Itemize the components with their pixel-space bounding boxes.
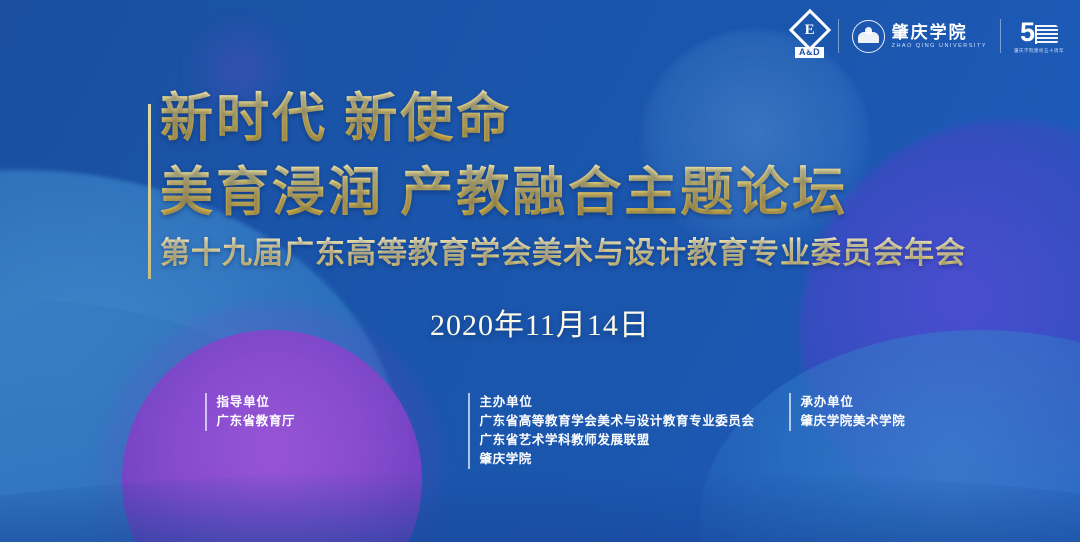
art-design-diamond-icon: E (788, 8, 830, 50)
anniversary-numeral: 5 (1020, 19, 1034, 46)
background-purple-circle (122, 330, 422, 542)
credit-org-name: 广东省高等教育学会美术与设计教育专业委员会 (480, 412, 755, 431)
background-bottom-navy-sweep (0, 470, 1080, 542)
credit-block-organizing-unit: 承办单位 肇庆学院美术学院 (789, 393, 905, 431)
credit-accent-bar (205, 393, 207, 431)
credit-role-label: 指导单位 (217, 393, 296, 412)
credit-org-name: 广东省教育厅 (217, 412, 296, 431)
credit-org-name: 肇庆学院美术学院 (801, 412, 906, 431)
credit-org-name: 广东省艺术学科教师发展联盟 (480, 431, 755, 450)
credit-accent-bar (468, 393, 470, 469)
fiftieth-anniversary-logo: 5 肇庆学院建校五十周年 (1014, 18, 1064, 54)
credit-role-label: 主办单位 (480, 393, 755, 412)
logo-divider (1000, 19, 1001, 53)
logo-strip: E A&D 肇庆学院 ZHAO QING UNIVERSITY 5 肇庆学院建校… (795, 14, 1064, 58)
credit-block-guiding-unit: 指导单位 广东省教育厅 (205, 393, 295, 431)
credit-role-label: 承办单位 (801, 393, 906, 412)
art-design-mark-glyph: E (805, 22, 815, 37)
anniversary-mark-icon: 5 (1020, 18, 1058, 46)
title-line-1: 新时代 新使命 (160, 88, 1040, 150)
title-accent-rule (148, 104, 151, 279)
open-book-icon (1035, 25, 1058, 44)
credit-accent-bar (789, 393, 791, 431)
anniversary-caption: 肇庆学院建校五十周年 (1014, 48, 1064, 54)
zhaoqing-university-logo: 肇庆学院 ZHAO QING UNIVERSITY (852, 20, 987, 53)
zhaoqing-seal-icon (852, 20, 885, 53)
zhaoqing-name-en: ZHAO QING UNIVERSITY (892, 42, 987, 50)
title-line-2: 美育浸润 产教融合主题论坛 (160, 162, 1040, 224)
zhaoqing-name-cn: 肇庆学院 (892, 23, 987, 42)
logo-divider (838, 19, 839, 53)
art-design-committee-logo: E A&D (795, 15, 825, 58)
credit-block-host-unit: 主办单位 广东省高等教育学会美术与设计教育专业委员会 广东省艺术学科教师发展联盟… (468, 393, 755, 469)
title-block: 新时代 新使命 美育浸润 产教融合主题论坛 第十九届广东高等教育学会美术与设计教… (160, 88, 1040, 273)
background-bright-blue-bottom-right (700, 330, 1080, 542)
conference-banner: E A&D 肇庆学院 ZHAO QING UNIVERSITY 5 肇庆学院建校… (0, 0, 1080, 542)
credit-org-name: 肇庆学院 (480, 450, 755, 469)
page-subtitle: 第十九届广东高等教育学会美术与设计教育专业委员会年会 (160, 235, 1040, 273)
event-date: 2020年11月14日 (0, 306, 1080, 346)
